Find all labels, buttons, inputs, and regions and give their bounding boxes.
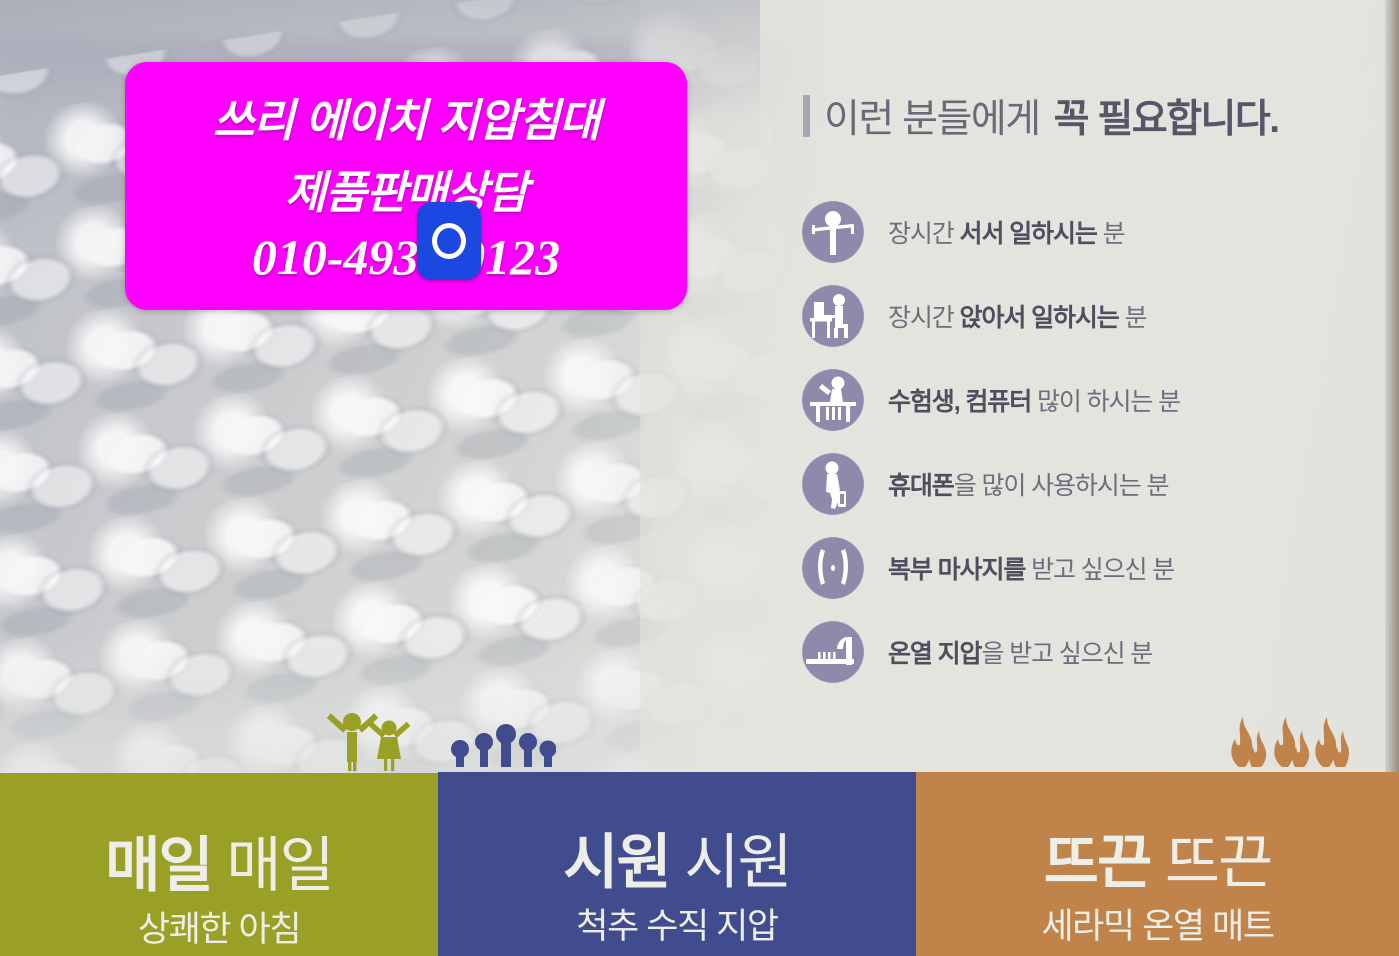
list-item-label: 온열 지압을 받고 싶으신 분 [888, 634, 1152, 670]
list-item: 복부 마사지를 받고 싶으신 분 [802, 532, 1322, 604]
panel-subtitle: 상쾌한 아침 [0, 901, 438, 952]
list-item: 장시간 앉아서 일하시는 분 [802, 280, 1322, 352]
headline-light-text: 이런 분들에게 [824, 88, 1040, 144]
headline-bold-text: 꼭 필요합니다. [1054, 88, 1279, 144]
list-item: 장시간 서서 일하시는 분 [802, 196, 1322, 268]
list-item-label: 복부 마사지를 받고 싶으신 분 [888, 550, 1174, 586]
panel-title: 뜨끈 뜨끈 [916, 814, 1399, 901]
list-item: 온열 지압을 받고 싶으신 분 [802, 616, 1322, 688]
headline-accent-bar [803, 95, 810, 137]
list-item-label: 장시간 서서 일하시는 분 [888, 214, 1125, 250]
target-audience-list: 장시간 서서 일하시는 분 장시간 앉아 [802, 196, 1322, 700]
ring-glyph [432, 223, 466, 259]
sitting-at-desk-icon [802, 285, 864, 347]
standing-person-icon [802, 201, 864, 263]
abdomen-massage-icon [802, 537, 864, 599]
list-item-label: 휴대폰을 많이 사용하시는 분 [888, 466, 1168, 502]
poster-photo: 이런 분들에게 꼭 필요합니다. 장시간 서서 일하시는 분 [0, 0, 1399, 956]
panel-subtitle: 세라믹 온열 매트 [916, 898, 1399, 949]
sales-consult-label: 제품판매상담 [125, 156, 687, 221]
list-item-label: 장시간 앉아서 일하시는 분 [888, 298, 1146, 334]
feature-panel-hot: 뜨끈 뜨끈 세라믹 온열 매트 [916, 772, 1399, 956]
list-item: 수험생, 컴퓨터 많이 하시는 분 [802, 364, 1322, 436]
section-headline: 이런 분들에게 꼭 필요합니다. [803, 88, 1279, 144]
heated-mat-icon [802, 621, 864, 683]
contact-overlay-card[interactable]: 쓰리 에이치 지압침대 제품판매상담 010-4930-0123 [125, 62, 687, 310]
feature-panel-cool: 시원 시원 척추 수직 지압 [438, 772, 916, 956]
brand-name: 쓰리 에이치 지압침대 [125, 84, 687, 149]
app-ring-icon[interactable] [417, 202, 481, 280]
feature-panel-daily: 매일 매일 상쾌한 아침 [0, 773, 438, 956]
list-item-label: 수험생, 컴퓨터 많이 하시는 분 [888, 382, 1180, 418]
student-studying-icon [802, 369, 864, 431]
phone-user-icon [802, 453, 864, 515]
phone-number[interactable]: 010-4930-0123 [125, 228, 687, 286]
panel-title: 매일 매일 [0, 817, 438, 904]
panel-title: 시원 시원 [438, 814, 916, 901]
list-item: 휴대폰을 많이 사용하시는 분 [802, 448, 1322, 520]
panel-subtitle: 척추 수직 지압 [438, 898, 916, 949]
